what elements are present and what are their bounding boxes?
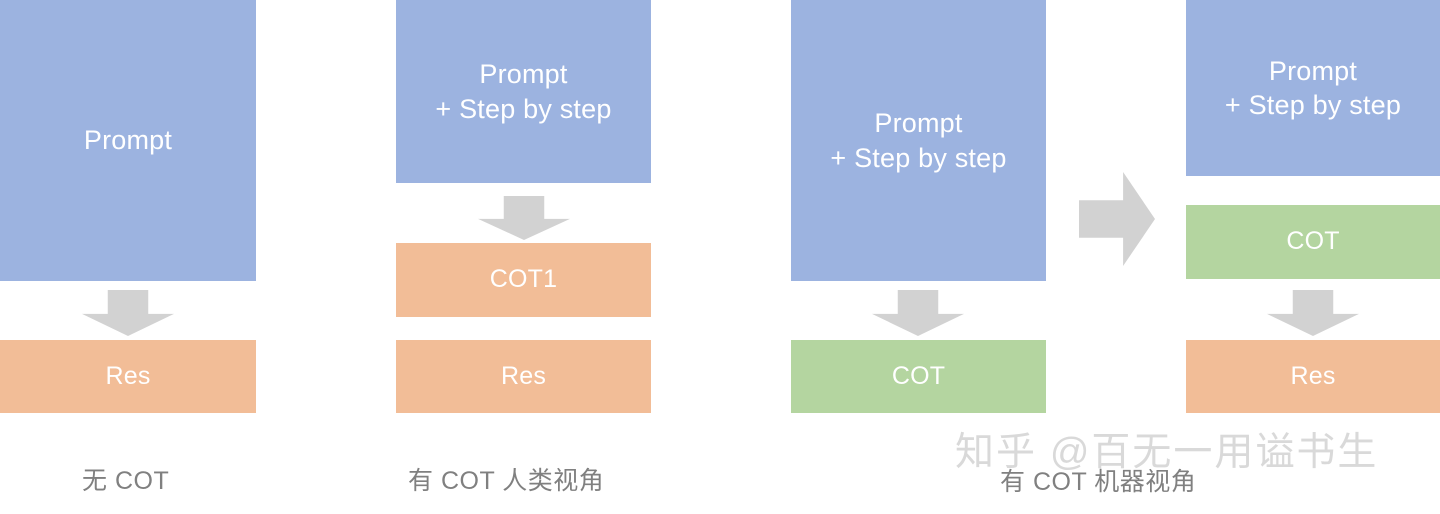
block-label: Prompt + Step by step <box>435 57 611 125</box>
arrow-down-icon-col2 <box>478 196 570 240</box>
arrow-down-icon-col1 <box>82 290 174 336</box>
block-cot-col3: COT <box>791 340 1046 413</box>
block-label: COT <box>1286 226 1339 258</box>
diagram-canvas: Prompt Res 无 COT Prompt + Step by step C… <box>0 0 1440 514</box>
block-prompt-col1: Prompt <box>0 0 256 281</box>
block-result-col2: Res <box>396 340 651 413</box>
block-label: COT <box>892 361 945 393</box>
arrow-right-icon-transition <box>1079 172 1155 266</box>
block-result-col1: Res <box>0 340 256 413</box>
block-cot-col4: COT <box>1186 205 1440 279</box>
block-label: Prompt <box>84 123 172 157</box>
block-label: Res <box>1290 361 1335 393</box>
block-prompt-col3: Prompt + Step by step <box>791 0 1046 281</box>
block-label: Prompt + Step by step <box>1225 54 1401 122</box>
block-prompt-col4: Prompt + Step by step <box>1186 0 1440 176</box>
arrow-down-icon-col3 <box>872 290 964 336</box>
block-cot1-col2: COT1 <box>396 243 651 317</box>
block-result-col4: Res <box>1186 340 1440 413</box>
arrow-down-icon-col4 <box>1267 290 1359 336</box>
caption-col1: 无 COT <box>82 461 169 497</box>
block-label: Prompt + Step by step <box>830 106 1006 174</box>
block-label: COT1 <box>490 264 557 296</box>
caption-col2: 有 COT 人类视角 <box>408 461 604 497</box>
block-prompt-col2: Prompt + Step by step <box>396 0 651 183</box>
block-label: Res <box>501 361 546 393</box>
block-label: Res <box>105 361 150 393</box>
caption-col3: 有 COT 机器视角 <box>1000 462 1196 498</box>
